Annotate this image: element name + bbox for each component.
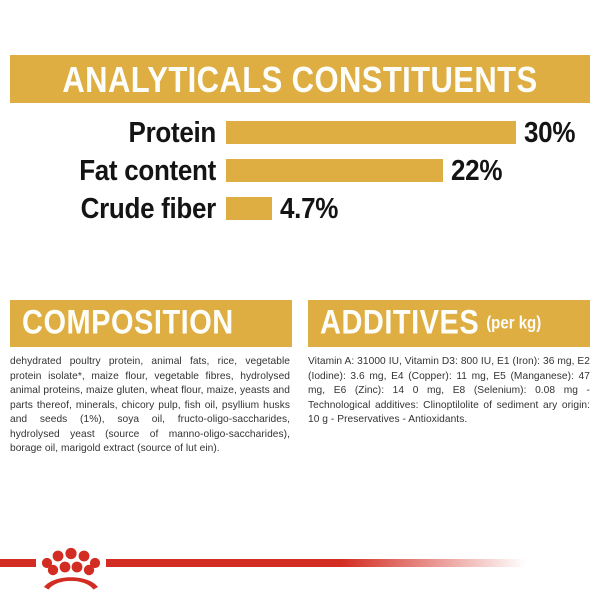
additives-panel: ADDITIVES (per kg) Vitamin A: 31000 IU, … [308, 300, 590, 457]
composition-body-text: dehydrated poultry protein, animal fats,… [10, 355, 292, 457]
chart-value-label: 22% [451, 153, 502, 188]
analyticals-header-band: ANALYTICALS CONSTITUENTS [10, 55, 590, 103]
additives-header-subtitle: (per kg) [486, 314, 541, 334]
additives-header-band: ADDITIVES (per kg) [308, 300, 590, 347]
chart-category-label: Crude fiber [0, 191, 216, 226]
chart-category-label: Protein [0, 115, 216, 150]
analyticals-header-title: ANALYTICALS CONSTITUENTS [62, 61, 537, 98]
footer [0, 545, 600, 600]
additives-header-title: ADDITIVES [320, 306, 479, 340]
chart-bar [226, 121, 516, 144]
additives-body-text: Vitamin A: 31000 IU, Vitamin D3: 800 IU,… [308, 355, 590, 428]
composition-header-band: COMPOSITION [10, 300, 292, 347]
chart-value-label: 30% [524, 115, 575, 150]
chart-row: Fat content 22% [0, 151, 600, 189]
chart-bar-zone: 4.7% [226, 189, 338, 227]
chart-row: Protein 30% [0, 113, 600, 151]
royal-canin-crown-icon [40, 545, 102, 591]
chart-bar-zone: 22% [226, 151, 502, 189]
footer-rule-left [0, 559, 36, 567]
chart-row: Crude fiber 4.7% [0, 189, 600, 227]
chart-category-label: Fat content [0, 153, 216, 188]
composition-panel: COMPOSITION dehydrated poultry protein, … [10, 300, 292, 457]
chart-bar [226, 197, 272, 220]
chart-value-label: 4.7% [280, 191, 338, 226]
chart-bar-zone: 30% [226, 113, 575, 151]
composition-header-title: COMPOSITION [22, 306, 234, 340]
footer-rule-right [106, 559, 526, 567]
constituents-bar-chart: Protein 30% Fat content 22% Crude fiber … [0, 113, 600, 227]
chart-bar [226, 159, 443, 182]
detail-columns: COMPOSITION dehydrated poultry protein, … [10, 300, 590, 457]
